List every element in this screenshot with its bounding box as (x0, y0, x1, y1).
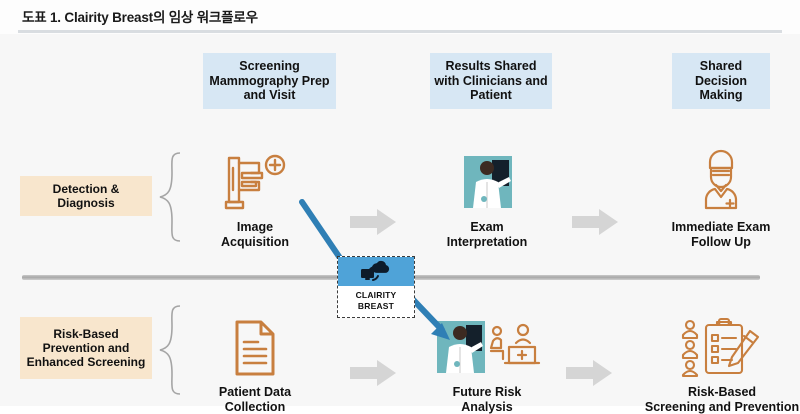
arrow-patientdata-to-futurerisk (350, 360, 396, 386)
masked-doctor-icon (646, 150, 796, 216)
step-risk-based-screening-and-prevention: Risk-Based Screening and Prevention (632, 315, 800, 414)
document-icon (180, 315, 330, 381)
mammography-machine-icon (180, 150, 330, 216)
band-label-risk-based-prevention: Risk-Based Prevention and Enhanced Scree… (20, 317, 152, 379)
column-header-shared-decision: Shared Decision Making (672, 53, 770, 109)
arrow-exam-to-followup (572, 209, 618, 235)
cloud-monitor-sync-icon (338, 257, 414, 286)
step-caption: Patient Data Collection (180, 385, 330, 414)
step-future-risk-analysis: Future Risk Analysis (412, 315, 562, 414)
band-label-detection-diagnosis: Detection & Diagnosis (20, 176, 152, 216)
workflow-canvas: Screening Mammography Prep and Visit Res… (0, 34, 800, 406)
step-caption: Image Acquisition (180, 220, 330, 249)
step-caption: Exam Interpretation (412, 220, 562, 249)
diagram-page: 도표 1. Clairity Breast의 임상 워크플로우 Screenin… (0, 0, 800, 406)
step-caption: Risk-Based Screening and Prevention (632, 385, 800, 414)
step-patient-data-collection: Patient Data Collection (180, 315, 330, 414)
arrow-image-to-exam (350, 209, 396, 235)
clairity-breast-label: CLAIRITY BREAST (338, 286, 414, 311)
arrow-futurerisk-to-riskbased (566, 360, 612, 386)
step-immediate-exam-follow-up: Immediate Exam Follow Up (646, 150, 796, 249)
step-caption: Future Risk Analysis (412, 385, 562, 414)
title-divider (18, 30, 782, 33)
clinician-reading-xray-icon (412, 150, 562, 216)
page-title: 도표 1. Clairity Breast의 임상 워크플로우 (22, 6, 258, 26)
clipboard-checklist-people-icon (632, 315, 800, 381)
step-image-acquisition: Image Acquisition (180, 150, 330, 249)
column-header-screening-prep: Screening Mammography Prep and Visit (203, 53, 336, 109)
step-caption: Immediate Exam Follow Up (646, 220, 796, 249)
column-header-results-shared: Results Shared with Clinicians and Patie… (430, 53, 552, 109)
step-exam-interpretation: Exam Interpretation (412, 150, 562, 249)
clairity-breast-badge[interactable]: CLAIRITY BREAST (337, 256, 415, 318)
clinician-consultation-icon (412, 315, 562, 381)
